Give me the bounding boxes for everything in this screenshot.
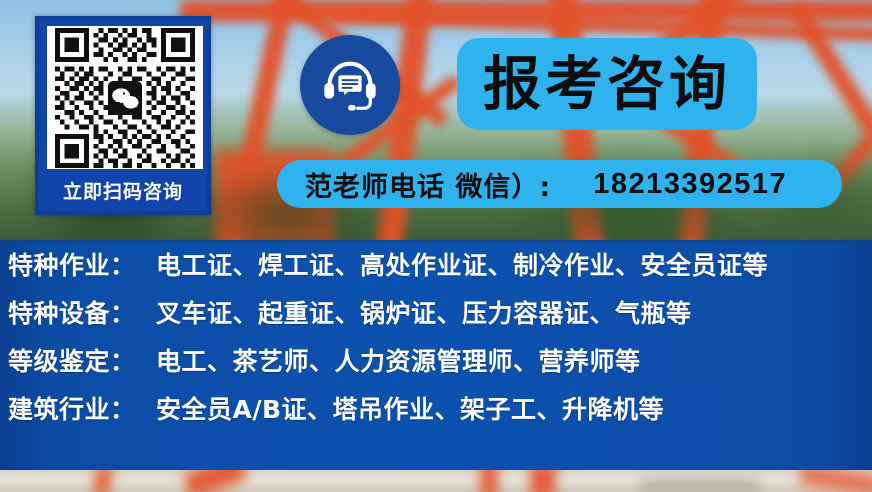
crane-beam — [330, 8, 872, 42]
service-category-label: 建筑行业： — [8, 390, 156, 426]
service-items: 电工、茶艺师、人力资源管理师、营养师等 — [156, 342, 641, 378]
crane-beam — [788, 1, 872, 138]
wechat-qr-code-icon[interactable] — [47, 26, 203, 169]
promo-poster: 立即扫码咨询 报考咨询 范老师电话 微信）: 18213392517 特种作业：… — [0, 0, 872, 492]
crane-beam — [182, 470, 247, 492]
page-title: 报考咨询 — [483, 55, 731, 113]
service-items: 安全员A/B证、塔吊作业、架子工、升降机等 — [156, 390, 664, 426]
service-row: 等级鉴定： 电工、茶艺师、人力资源管理师、营养师等 — [0, 342, 872, 390]
crane-beam — [799, 470, 872, 492]
service-row: 建筑行业： 安全员A/B证、塔吊作业、架子工、升降机等 — [0, 390, 872, 438]
service-row: 特种设备： 叉车证、起重证、锅炉证、压力容器证、气瓶等 — [0, 294, 872, 342]
headset-chat-icon — [300, 35, 400, 135]
service-category-label: 特种设备： — [8, 294, 156, 330]
crane-beam — [180, 0, 872, 22]
service-items: 电工证、焊工证、高处作业证、制冷作业、安全员证等 — [156, 246, 768, 282]
headset-icon-svg — [319, 54, 381, 116]
crane-beam — [220, 0, 300, 243]
qr-code-svg — [50, 28, 200, 168]
service-category-label: 等级鉴定： — [8, 342, 156, 378]
bottom-photo-strip — [0, 470, 872, 492]
crane-beam — [640, 480, 760, 490]
crane-beam — [92, 470, 114, 492]
title-pill: 报考咨询 — [457, 38, 757, 130]
contact-label: 范老师电话 微信）: — [305, 165, 551, 204]
wechat-logo-icon — [108, 81, 142, 115]
crane-beam — [480, 470, 498, 492]
service-category-label: 特种作业： — [8, 246, 156, 282]
contact-phone-number[interactable]: 18213392517 — [593, 168, 787, 201]
service-list: 特种作业： 电工证、焊工证、高处作业证、制冷作业、安全员证等 特种设备： 叉车证… — [0, 246, 872, 438]
qr-code-card[interactable]: 立即扫码咨询 — [35, 16, 211, 215]
contact-pill[interactable]: 范老师电话 微信）: 18213392517 — [277, 160, 842, 208]
panel-top-edge — [0, 240, 872, 243]
service-row: 特种作业： 电工证、焊工证、高处作业证、制冷作业、安全员证等 — [0, 246, 872, 294]
crane-beam — [530, 470, 556, 492]
qr-caption: 立即扫码咨询 — [39, 170, 207, 210]
service-items: 叉车证、起重证、锅炉证、压力容器证、气瓶等 — [156, 294, 692, 330]
